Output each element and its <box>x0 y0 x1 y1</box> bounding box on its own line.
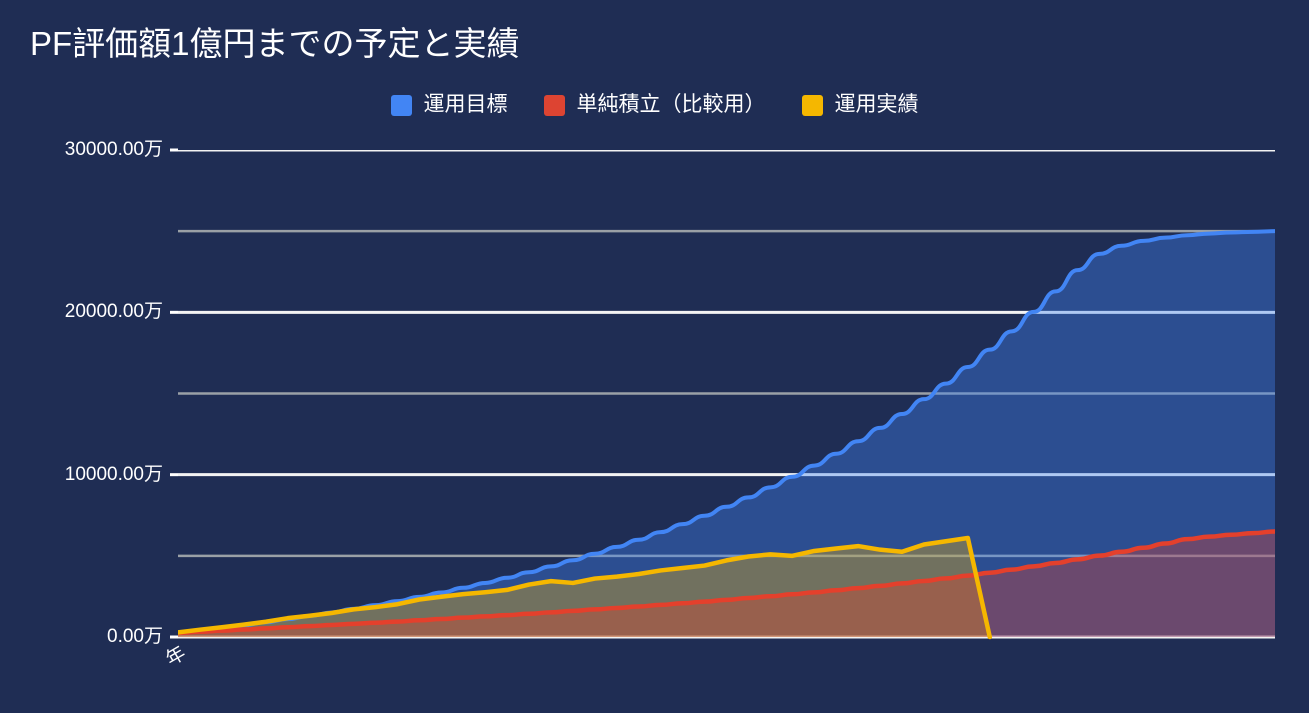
y-axis-tick-label: 10000.00万 <box>65 465 163 485</box>
plot-area: 30000.00万20000.00万10000.00万0.00万 年 <box>0 0 1309 713</box>
axis-ticks <box>170 150 178 637</box>
y-axis-tick-label: 20000.00万 <box>65 302 163 322</box>
plot-svg <box>0 0 1309 713</box>
chart-root: PF評価額1億円までの予定と実績 運用目標 単純積立（比較用） 運用実績 <box>0 0 1309 713</box>
y-axis-tick-label: 30000.00万 <box>65 140 163 160</box>
series-areas <box>178 231 1275 637</box>
y-axis-tick-label: 0.00万 <box>107 627 163 647</box>
